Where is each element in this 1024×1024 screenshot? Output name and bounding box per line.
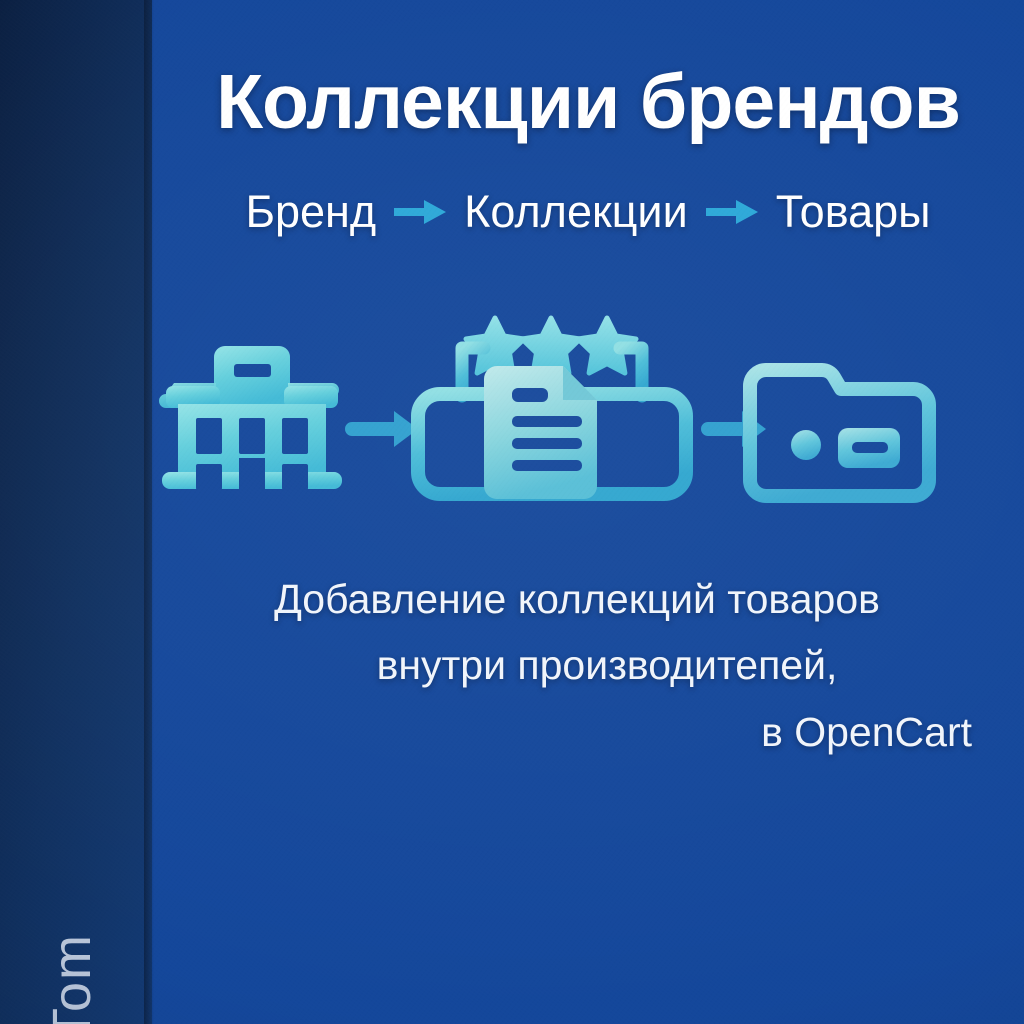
factory-building-icon <box>159 346 342 492</box>
spine-brand-label: Tom <box>41 821 103 1024</box>
breadcrumb-step-brand: Бренд <box>245 186 376 238</box>
description-line-2: внутри производитепей, <box>182 632 972 698</box>
main-content-area: Коллекции брендов Бренд Коллекции Товары <box>152 0 1024 1024</box>
left-spine-panel: Tom <box>0 0 152 1024</box>
description-line-3: в OpenCart <box>182 699 972 765</box>
breadcrumb-step-products: Товары <box>776 186 931 238</box>
breadcrumb-step-collections: Коллекции <box>464 186 688 238</box>
star-icon <box>522 318 580 373</box>
process-icon-row <box>152 300 1024 510</box>
description-line-1: Добавление коллекций товаров <box>182 566 972 632</box>
description-text: Добавление коллекций товаров внутри прои… <box>182 566 972 765</box>
arrow-right-icon <box>392 197 448 227</box>
page-title: Коллекции брендов <box>152 62 1024 143</box>
poster-canvas: Tom Коллекции брендов Бренд Коллекции То… <box>0 0 1024 1024</box>
arrow-right-icon <box>704 197 760 227</box>
product-folder-icon <box>750 370 929 496</box>
collection-box-with-stars-and-document-icon <box>418 318 686 499</box>
breadcrumb: Бренд Коллекции Товары <box>152 186 1024 238</box>
arrow-right-icon <box>345 411 418 447</box>
